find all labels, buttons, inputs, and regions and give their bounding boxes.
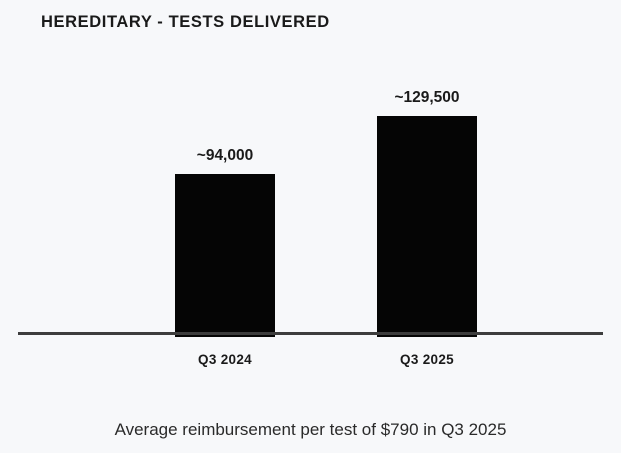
bar-q3-2024[interactable] [175, 174, 275, 337]
x-axis-line [18, 332, 603, 335]
chart-slide: HEREDITARY - TESTS DELIVERED ~94,000 ~12… [0, 0, 621, 453]
bar-group-q3-2025: ~129,500 [377, 52, 477, 337]
chart-title: HEREDITARY - TESTS DELIVERED [41, 13, 330, 32]
bar-group-q3-2024: ~94,000 [175, 52, 275, 337]
bar-value-q3-2024: ~94,000 [135, 147, 315, 165]
chart-annotation: Average reimbursement per test of $790 i… [0, 420, 621, 440]
bar-q3-2025[interactable] [377, 116, 477, 337]
plot-area: ~94,000 ~129,500 [0, 52, 621, 337]
bar-value-q3-2025: ~129,500 [337, 89, 517, 107]
x-tick-label-q3-2024: Q3 2024 [135, 352, 315, 367]
x-tick-label-q3-2025: Q3 2025 [337, 352, 517, 367]
